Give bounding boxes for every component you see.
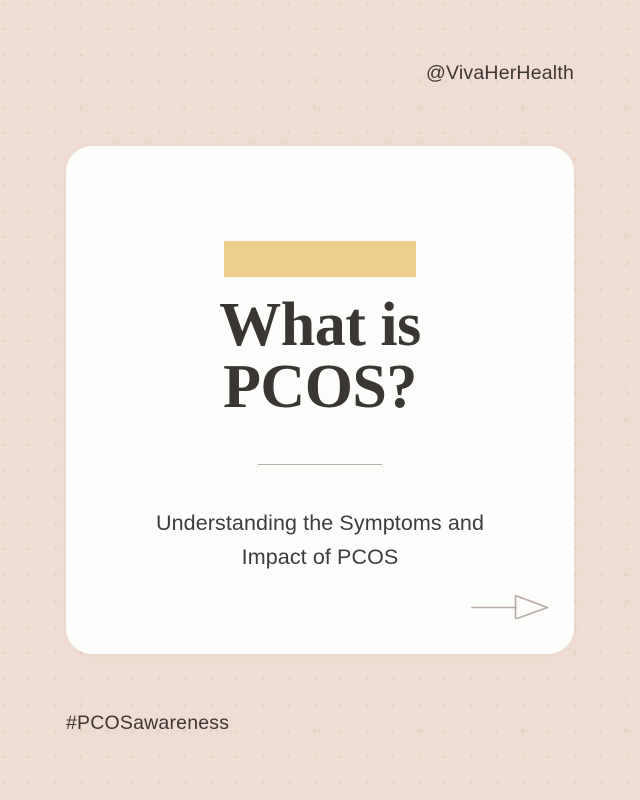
content-card: What is PCOS? Understanding the Symptoms…	[66, 146, 574, 654]
arrow-right-icon	[471, 593, 549, 619]
account-handle: @VivaHerHealth	[426, 62, 574, 85]
page-subtitle-line-1: Understanding the Symptoms and	[100, 506, 540, 540]
page-title-line-2: PCOS?	[66, 356, 574, 418]
page-subtitle-line-2: Impact of PCOS	[100, 540, 540, 574]
social-post-slide: @VivaHerHealth What is PCOS? Understandi…	[0, 0, 640, 800]
hashtag-label: #PCOSawareness	[66, 712, 229, 735]
page-title-line-1: What is	[66, 294, 574, 356]
title-divider	[258, 464, 382, 465]
page-subtitle: Understanding the Symptoms and Impact of…	[100, 506, 540, 574]
swipe-next-button[interactable]	[471, 593, 549, 619]
page-title: What is PCOS?	[66, 294, 574, 418]
gold-accent-bar	[224, 241, 416, 277]
